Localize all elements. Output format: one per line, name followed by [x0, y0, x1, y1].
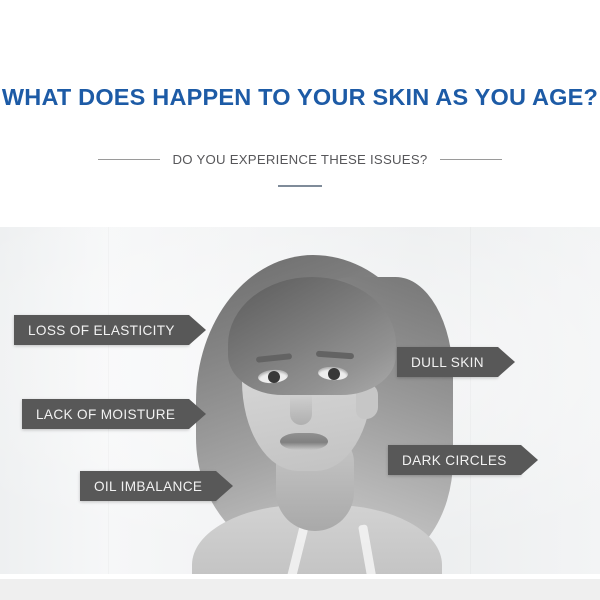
- subtitle-row: DO YOU EXPERIENCE THESE ISSUES?: [0, 152, 600, 167]
- callout-lack-of-moisture[interactable]: LACK OF MOISTURE: [22, 399, 189, 429]
- subtitle-rule-left: [98, 159, 160, 160]
- subtitle-rule-right: [440, 159, 502, 160]
- pupil-left: [268, 371, 280, 383]
- callout-dark-circles[interactable]: DARK CIRCLES: [388, 445, 521, 475]
- portrait-photo: LOSS OF ELASTICITY LACK OF MOISTURE OIL …: [0, 227, 600, 574]
- callout-label: DULL SKIN: [397, 355, 484, 370]
- page-subtitle: DO YOU EXPERIENCE THESE ISSUES?: [173, 152, 428, 167]
- callout-oil-imbalance[interactable]: OIL IMBALANCE: [80, 471, 216, 501]
- lips: [280, 433, 328, 450]
- callout-label: LACK OF MOISTURE: [22, 407, 175, 422]
- backdrop-seam: [470, 227, 471, 574]
- callout-dull-skin[interactable]: DULL SKIN: [397, 347, 498, 377]
- accent-divider: [278, 185, 322, 187]
- header-section: WHAT DOES HAPPEN TO YOUR SKIN AS YOU AGE…: [0, 0, 600, 227]
- pupil-right: [328, 368, 340, 380]
- callout-loss-of-elasticity[interactable]: LOSS OF ELASTICITY: [14, 315, 189, 345]
- callout-label: LOSS OF ELASTICITY: [14, 323, 175, 338]
- callout-label: OIL IMBALANCE: [80, 479, 202, 494]
- footer-band: [0, 579, 600, 600]
- page-title: WHAT DOES HAPPEN TO YOUR SKIN AS YOU AGE…: [0, 84, 600, 111]
- nose: [290, 377, 312, 425]
- model-figure: [168, 237, 468, 574]
- callout-label: DARK CIRCLES: [388, 453, 507, 468]
- infographic-page: WHAT DOES HAPPEN TO YOUR SKIN AS YOU AGE…: [0, 0, 600, 600]
